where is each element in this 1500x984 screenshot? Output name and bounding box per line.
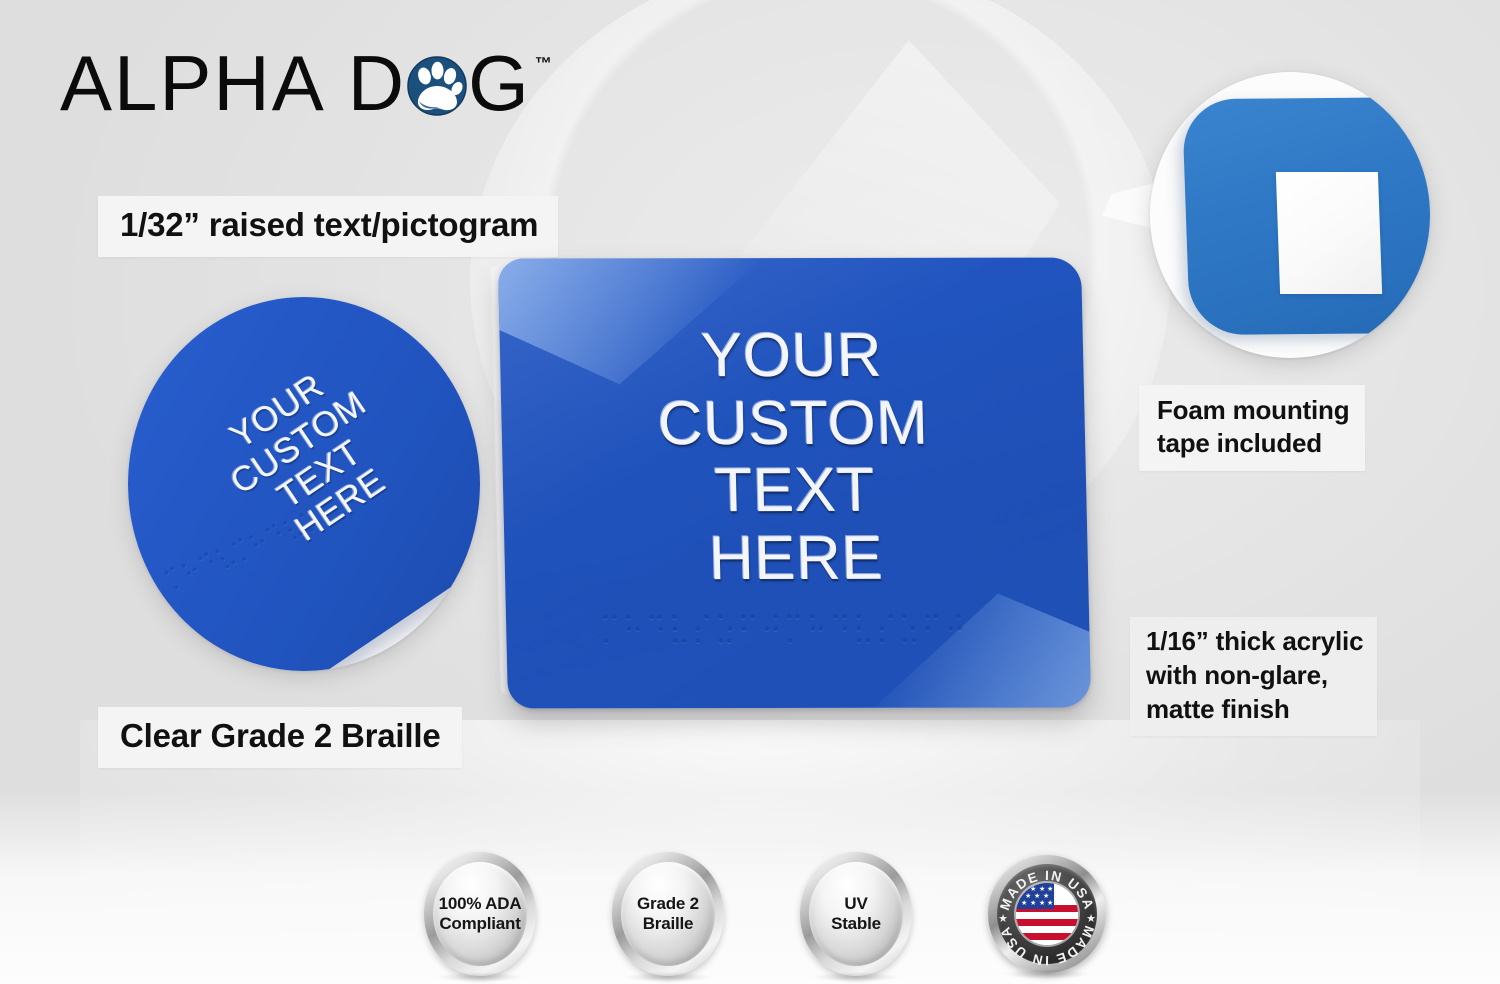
badge-grade-2-braille: Grade 2 Braille xyxy=(612,852,724,976)
logo-text-alpha: ALPHA xyxy=(60,44,326,122)
braille-dot xyxy=(749,614,754,619)
braille-dot xyxy=(298,531,304,537)
sign-braille-row xyxy=(601,610,992,667)
braille-dot xyxy=(292,534,298,540)
braille-dot xyxy=(764,626,769,631)
badge-label: Grade 2 Braille xyxy=(637,894,699,934)
braille-dot xyxy=(657,614,662,619)
braille-dot xyxy=(170,566,176,572)
callout-foam-mounting-tape: Foam mounting tape included xyxy=(1139,385,1365,471)
braille-dot xyxy=(911,638,916,643)
braille-dot xyxy=(231,541,237,547)
callout-thick-acrylic: 1/16” thick acrylic with non-glare, matt… xyxy=(1130,617,1377,736)
badge-face: Grade 2 Braille xyxy=(621,862,715,966)
badge-ada-compliant: 100% ADA Compliant xyxy=(424,852,536,976)
braille-dot xyxy=(833,614,838,619)
sign-text-line-2: CUSTOM xyxy=(501,389,1086,458)
badge-label: 100% ADA Compliant xyxy=(439,894,522,934)
braille-dot xyxy=(788,638,793,643)
braille-dot xyxy=(681,638,686,643)
braille-dot xyxy=(719,638,724,643)
braille-dot xyxy=(742,626,747,631)
braille-dot xyxy=(248,534,254,540)
brand-logo: ALPHA D G ™ xyxy=(60,40,552,126)
inset-braille-closeup: YOUR CUSTOM TEXT HERE xyxy=(128,297,480,671)
braille-dot xyxy=(287,527,293,533)
braille-dot xyxy=(241,556,247,562)
braille-dot xyxy=(795,614,800,619)
callout-raised-text-line-1: 1/32” raised text/pictogram xyxy=(120,206,538,245)
sign-text-line-3: TEXT xyxy=(502,457,1087,526)
paw-print-icon xyxy=(407,56,467,116)
braille-dot xyxy=(186,570,192,576)
braille-dot xyxy=(810,626,815,631)
braille-dot xyxy=(237,537,243,543)
braille-dot xyxy=(956,614,961,619)
badge-uv-line-2: Stable xyxy=(831,914,881,934)
sign-text-line-1: YOUR xyxy=(499,322,1084,391)
trademark-symbol: ™ xyxy=(535,54,552,74)
braille-dot xyxy=(253,541,259,547)
svg-text:★: ★ xyxy=(1039,885,1045,893)
callout-foam-line-2: tape included xyxy=(1157,427,1349,460)
braille-dot xyxy=(841,614,846,619)
callout-acrylic-line-3: matte finish xyxy=(1146,693,1363,727)
svg-text:★: ★ xyxy=(1047,885,1053,893)
callout-braille-line-1: Clear Grade 2 Braille xyxy=(120,717,440,756)
sign-face: YOUR CUSTOM TEXT HERE xyxy=(498,258,1091,709)
braille-dot xyxy=(603,615,608,620)
braille-dot xyxy=(265,527,271,533)
star-left-icon: ★ xyxy=(998,913,1008,925)
braille-dot xyxy=(855,614,860,619)
braille-dot xyxy=(625,614,630,619)
svg-text:★: ★ xyxy=(1030,899,1036,907)
braille-dot xyxy=(911,625,916,630)
braille-dot xyxy=(695,626,700,631)
braille-dot xyxy=(219,556,225,562)
main-ada-sign: YOUR CUSTOM TEXT HERE xyxy=(498,258,1091,709)
badge-label: UV Stable xyxy=(831,894,881,934)
svg-text:★: ★ xyxy=(1039,899,1045,907)
braille-dot xyxy=(198,555,204,561)
braille-dot xyxy=(696,638,701,643)
braille-dot xyxy=(773,626,778,631)
product-infographic: ALPHA D G ™ 1/32” raised text/pictogram … xyxy=(0,0,1500,984)
braille-dot xyxy=(181,563,187,569)
braille-dot xyxy=(879,638,884,643)
braille-dot xyxy=(718,614,723,619)
braille-dot xyxy=(230,559,236,565)
badge-ada-line-2: Compliant xyxy=(439,914,522,934)
braille-dot xyxy=(604,638,609,643)
braille-dot xyxy=(191,566,197,572)
svg-text:★: ★ xyxy=(1025,892,1031,900)
braille-dot xyxy=(299,512,305,518)
braille-dot xyxy=(810,614,815,619)
callout-foam-line-1: Foam mounting xyxy=(1157,394,1349,427)
badge-ada-line-1: 100% ADA xyxy=(439,894,522,914)
braille-dot xyxy=(214,548,220,554)
callout-raised-text: 1/32” raised text/pictogram xyxy=(98,196,558,257)
logo-text-g: G xyxy=(468,44,531,122)
us-flag-icon: ★★★★ ★★★ ★★★★ xyxy=(1016,883,1078,945)
badge-shadow xyxy=(813,972,899,982)
braille-dot xyxy=(933,614,938,619)
braille-dot xyxy=(856,626,861,631)
braille-dot xyxy=(925,613,930,618)
braille-dot xyxy=(727,638,732,643)
braille-dot xyxy=(282,520,288,526)
feature-badges: 100% ADA Compliant Grade 2 Braille UV xyxy=(0,852,1500,976)
braille-dot xyxy=(902,614,907,619)
braille-dot xyxy=(635,626,640,631)
braille-dot xyxy=(673,638,678,643)
badge-face: 100% ADA Compliant xyxy=(433,862,527,966)
badge-grade2-line-2: Braille xyxy=(637,914,699,934)
braille-dot xyxy=(649,614,654,619)
braille-dot xyxy=(259,537,265,543)
braille-dot xyxy=(704,614,709,619)
braille-dot xyxy=(208,559,214,565)
braille-dot xyxy=(957,626,962,631)
svg-text:★: ★ xyxy=(1021,899,1027,907)
badge-grade2-line-1: Grade 2 xyxy=(637,894,699,914)
braille-dot xyxy=(856,638,861,643)
sign-text-line-4: HERE xyxy=(504,524,1089,593)
svg-text:★: ★ xyxy=(1047,899,1053,907)
braille-dot xyxy=(271,523,277,529)
badge-face: UV Stable xyxy=(809,862,903,966)
braille-dot xyxy=(626,626,631,631)
braille-dot xyxy=(164,570,170,576)
braille-dot xyxy=(773,614,778,619)
callout-acrylic-line-1: 1/16” thick acrylic xyxy=(1146,625,1363,659)
braille-dot xyxy=(879,626,884,631)
braille-dot xyxy=(174,585,180,591)
braille-dot xyxy=(741,614,746,619)
braille-dot xyxy=(842,626,847,631)
braille-dot xyxy=(727,626,732,631)
inset-foam-tape-closeup xyxy=(1150,72,1430,358)
svg-text:★: ★ xyxy=(1034,892,1040,900)
callout-acrylic-line-2: with non-glare, xyxy=(1146,659,1363,693)
foam-tape-square xyxy=(1276,172,1382,294)
badge-shadow xyxy=(625,972,711,982)
braille-dot xyxy=(276,530,282,536)
badge-made-in-usa: MADE IN USA MADE IN USA ★ ★ xyxy=(988,855,1106,973)
braille-dot xyxy=(672,626,677,631)
braille-dot xyxy=(658,626,663,631)
badge-uv-stable: UV Stable xyxy=(800,852,912,976)
braille-dot xyxy=(305,508,311,514)
braille-dot xyxy=(612,614,617,619)
braille-dot xyxy=(866,638,871,643)
braille-dot xyxy=(925,625,930,630)
braille-dot xyxy=(672,614,677,619)
braille-dot xyxy=(787,614,792,619)
svg-text:★: ★ xyxy=(1043,892,1049,900)
svg-text:★: ★ xyxy=(1030,885,1036,893)
braille-dot xyxy=(309,527,315,533)
braille-dot xyxy=(819,626,824,631)
badge-shadow xyxy=(1004,969,1090,979)
logo-text-d: D xyxy=(348,44,406,122)
braille-dot xyxy=(949,625,954,630)
braille-dot xyxy=(203,551,209,557)
badge-shadow xyxy=(437,972,523,982)
callout-clear-grade-2-braille: Clear Grade 2 Braille xyxy=(98,707,462,768)
star-right-icon: ★ xyxy=(1086,913,1096,925)
braille-dot xyxy=(888,613,893,618)
braille-dot xyxy=(224,563,230,569)
badge-uv-line-1: UV xyxy=(831,894,881,914)
braille-dot xyxy=(903,637,908,642)
sign-custom-text: YOUR CUSTOM TEXT HERE xyxy=(499,322,1088,593)
